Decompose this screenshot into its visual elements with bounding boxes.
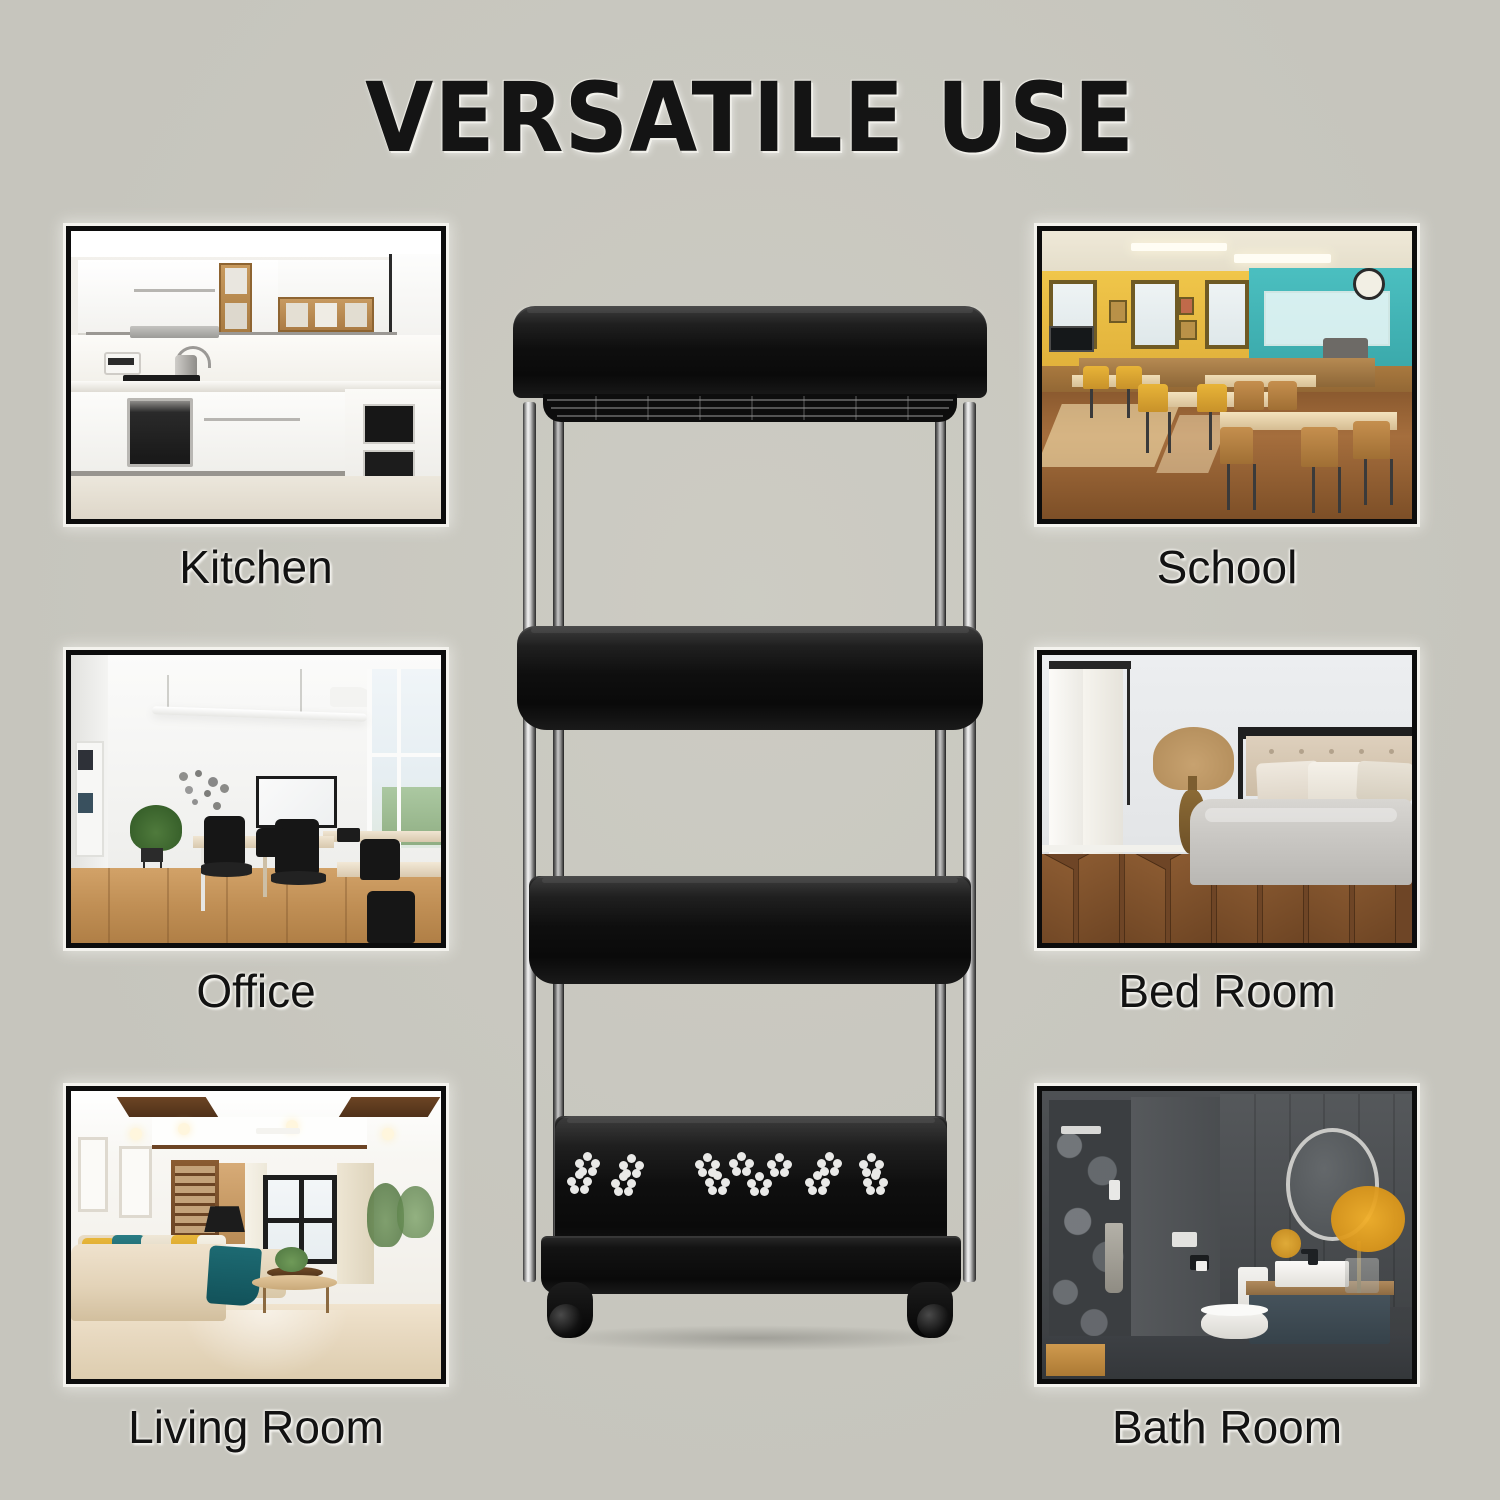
living-room-scene xyxy=(71,1091,441,1379)
office-scene xyxy=(71,655,441,943)
use-case-label-office: Office xyxy=(66,964,446,1018)
cart-base-skirt xyxy=(541,1236,961,1294)
cart-caster-left xyxy=(547,1282,593,1338)
cart-shelf-third xyxy=(529,876,971,984)
use-case-photo-bathroom xyxy=(1037,1086,1417,1384)
use-case-photo-office xyxy=(66,650,446,948)
bathroom-scene xyxy=(1042,1091,1412,1379)
use-case-card-office: Office xyxy=(66,650,446,1018)
use-case-photo-bedroom xyxy=(1037,650,1417,948)
use-case-label-school: School xyxy=(1037,540,1417,594)
use-case-label-bathroom: Bath Room xyxy=(1037,1400,1417,1454)
page-title: VERSATILE USE xyxy=(60,62,1440,174)
cart-bottom-shelf-drain-holes xyxy=(567,1152,935,1212)
use-case-card-bathroom: Bath Room xyxy=(1037,1086,1417,1454)
cart-shelf-second xyxy=(517,626,983,730)
use-case-photo-school xyxy=(1037,226,1417,524)
use-case-label-bedroom: Bed Room xyxy=(1037,964,1417,1018)
use-case-photo-kitchen xyxy=(66,226,446,524)
use-case-card-school: School xyxy=(1037,226,1417,594)
use-case-card-living-room: Living Room xyxy=(66,1086,446,1454)
use-case-label-kitchen: Kitchen xyxy=(66,540,446,594)
use-case-photo-living-room xyxy=(66,1086,446,1384)
cart-shelf-top xyxy=(513,306,987,398)
use-case-label-living-room: Living Room xyxy=(66,1400,446,1454)
bedroom-scene xyxy=(1042,655,1412,943)
cart-caster-right xyxy=(907,1282,953,1338)
cart-pole-front-right xyxy=(963,402,976,1282)
cart-top-shelf-grid xyxy=(543,394,957,422)
use-case-card-bedroom: Bed Room xyxy=(1037,650,1417,1018)
cart-pole-front-left xyxy=(523,402,536,1282)
use-case-card-kitchen: Kitchen xyxy=(66,226,446,594)
product-image-rolling-cart xyxy=(505,306,995,1340)
kitchen-scene xyxy=(71,231,441,519)
school-scene xyxy=(1042,231,1412,519)
